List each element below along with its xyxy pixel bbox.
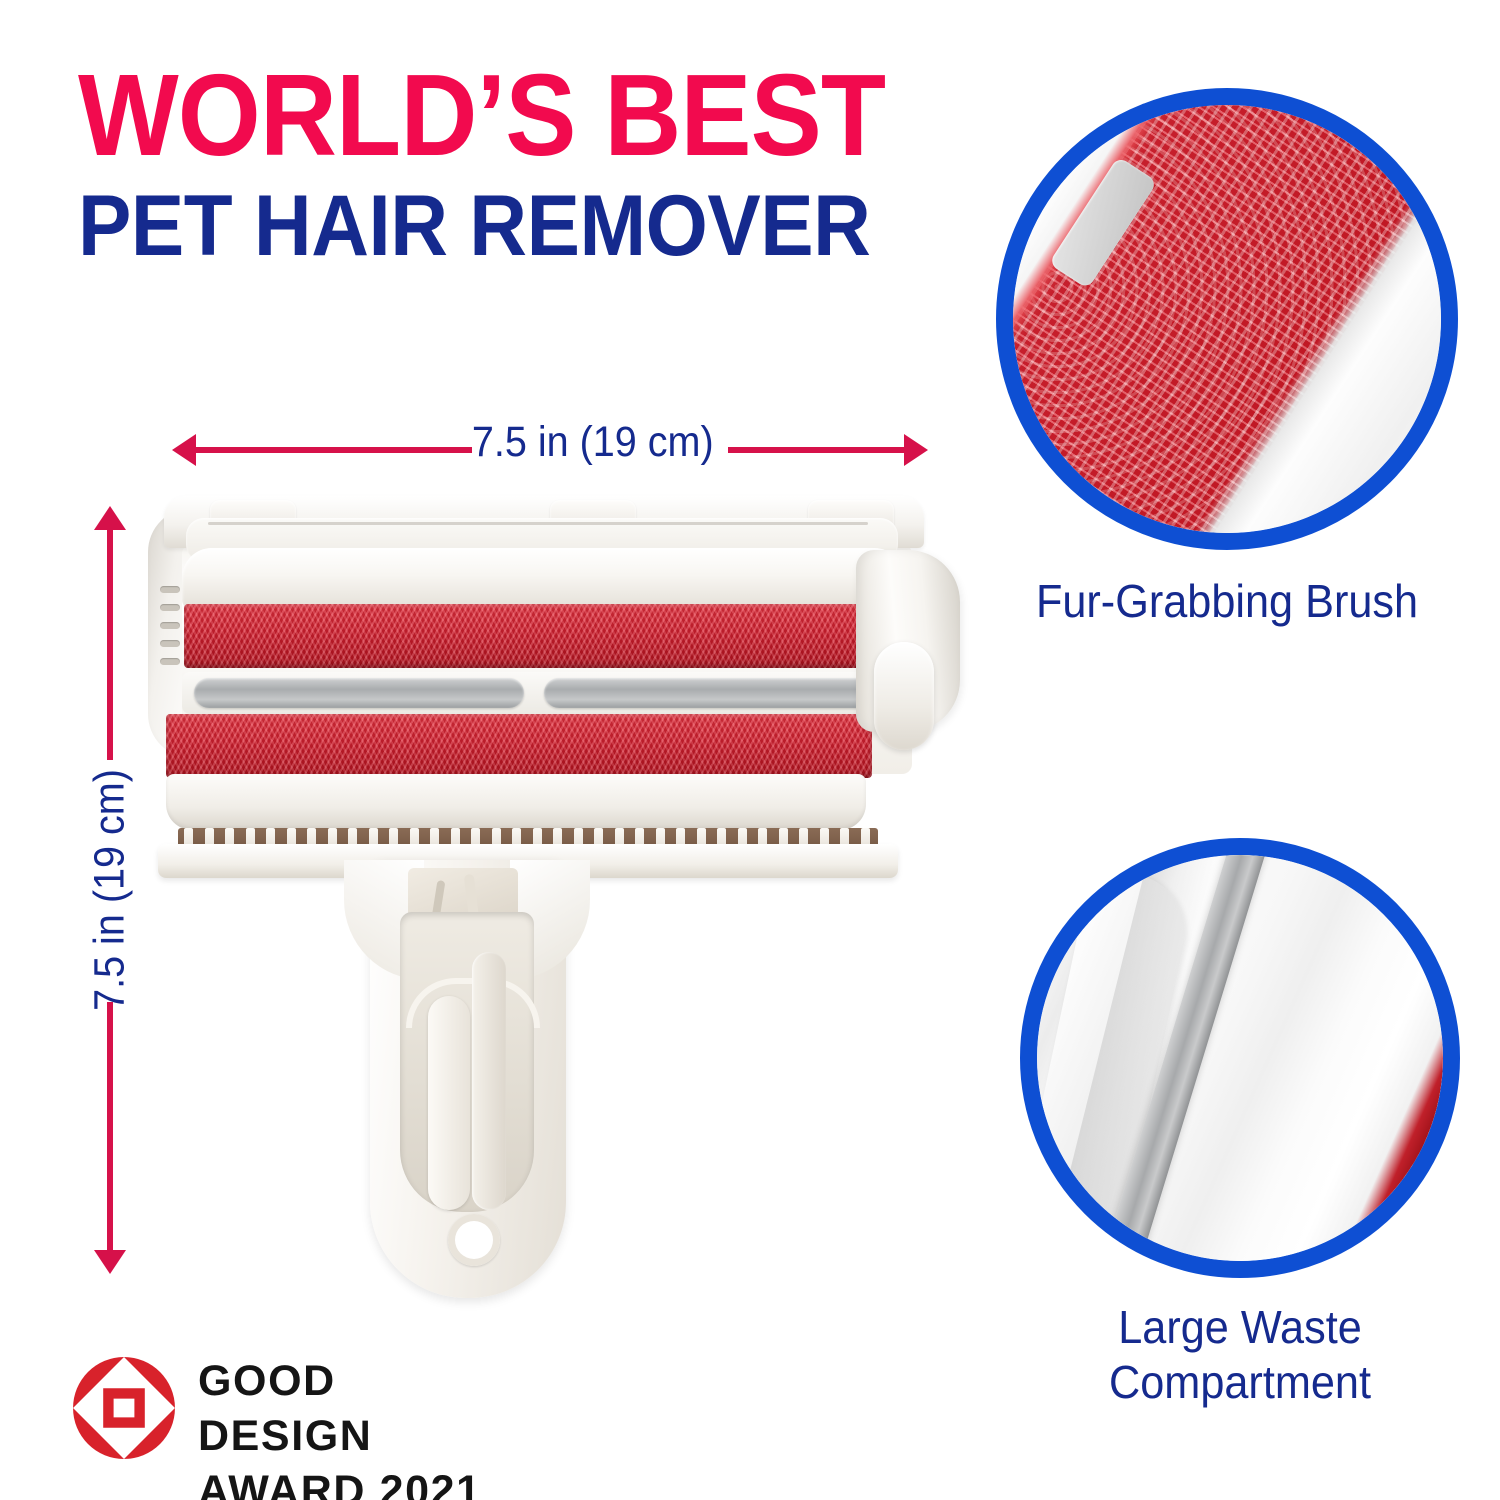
arrow-head-left-icon [172, 434, 196, 466]
width-dimension-label: 7.5 in (19 cm) [472, 418, 652, 467]
roller-knob [874, 642, 934, 750]
award-text: GOOD DESIGN AWARD 2021 [198, 1354, 492, 1500]
handle-rib-primary [428, 996, 470, 1210]
fur-brush-band-upper [184, 604, 904, 668]
arrow-head-down-icon [94, 1250, 126, 1274]
lid-seam-line [208, 522, 868, 525]
arrow-head-up-icon [94, 506, 126, 530]
callout-large-waste-compartment: Large Waste Compartment [1020, 838, 1460, 1278]
dimension-line-left [194, 447, 472, 453]
callout-circle-waste [1020, 838, 1460, 1278]
product-photo-main [148, 492, 960, 1302]
roller-white-cylinder-bottom [166, 774, 866, 830]
callout-circle-brush [996, 88, 1458, 550]
headline-line-2: PET HAIR REMOVER [78, 183, 896, 269]
width-dimension: 7.5 in (19 cm) [172, 424, 928, 476]
brush-macro-photo [1013, 105, 1441, 533]
squeegee-row [182, 672, 906, 714]
product-handle [344, 860, 590, 1300]
height-dimension-label: 7.5 in (19 cm) [86, 769, 135, 1011]
callout-label-fur-grabbing-brush: Fur-Grabbing Brush [1010, 574, 1444, 629]
dimension-line-top [107, 528, 113, 760]
squeegee-strip-right [544, 678, 888, 708]
height-dimension: 7.5 in (19 cm) [84, 506, 136, 1274]
page-title: WORLD’S BEST PET HAIR REMOVER [78, 62, 958, 269]
award-line-1: GOOD DESIGN [198, 1354, 492, 1464]
headline-line-1: WORLD’S BEST [78, 62, 888, 169]
dimension-line-right [728, 447, 906, 453]
roller-head [148, 492, 960, 792]
roller-white-cylinder-top [182, 548, 904, 608]
arrow-head-right-icon [904, 434, 928, 466]
product-infographic: WORLD’S BEST PET HAIR REMOVER 7.5 in (19… [0, 0, 1500, 1500]
g-mark-good-design-logo-icon [72, 1356, 176, 1460]
award-line-2: AWARD 2021 [198, 1464, 492, 1500]
waste-compartment-photo [1037, 855, 1443, 1261]
award-badge: GOOD DESIGN AWARD 2021 [72, 1352, 492, 1472]
handle-hang-hole [448, 1214, 500, 1266]
brush-bristle-texture [1013, 105, 1441, 533]
squeegee-strip-left [194, 678, 524, 708]
dimension-line-bottom [107, 1002, 113, 1252]
callout-label-large-waste-compartment: Large Waste Compartment [1033, 1300, 1447, 1410]
roller-end-cap-right [856, 550, 960, 732]
fur-brush-band-lower [166, 714, 872, 778]
handle-rib-secondary [472, 952, 506, 1210]
callout-fur-grabbing-brush: Fur-Grabbing Brush [996, 88, 1458, 550]
